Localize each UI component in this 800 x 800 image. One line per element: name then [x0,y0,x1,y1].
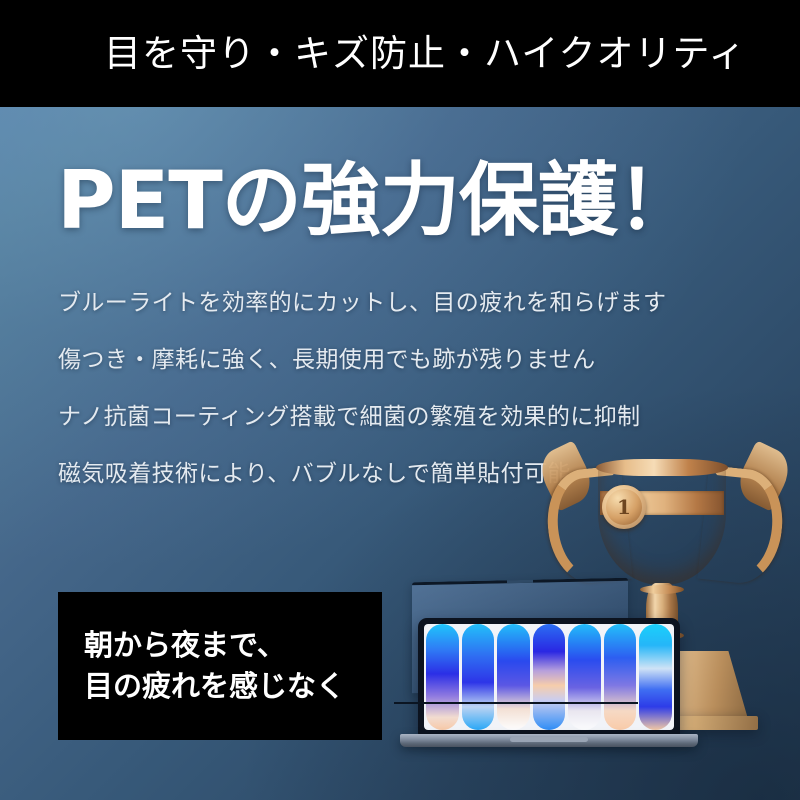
top-banner: 目を守り・キズ防止・ハイクオリティ [0,0,800,107]
wallpaper-bar-5 [568,624,601,730]
medal-number: 1 [617,497,631,517]
wallpaper-bar-3 [497,624,530,730]
quote-box: 朝から夜まで、 目の疲れを感じなく [58,592,382,740]
wallpaper-bar-4 [533,624,566,730]
product-scene: 1 [390,430,800,800]
laptop-screen [424,624,674,730]
laptop-lid [418,618,680,736]
feature-item-2: 傷つき・摩耗に強く、長期使用でも跡が残りません [58,349,698,372]
laptop-base [400,734,698,747]
laptop-device [418,618,680,753]
banner-headline: 目を守り・キズ防止・ハイクオリティ [104,35,746,72]
quote-line-2: 目の疲れを感じなく [84,666,382,707]
wallpaper-bar-1 [426,624,459,730]
quote-line-1: 朝から夜まで、 [84,625,382,666]
laptop-trackpad-notch [510,737,588,742]
trophy-stem-ring-top [640,585,684,594]
wallpaper-bar-2 [462,624,495,730]
feature-item-3: ナノ抗菌コーティング搭載で細菌の繁殖を効果的に抑制 [58,406,698,429]
promo-banner-page: 目を守り・キズ防止・ハイクオリティ PETの強力保護！ ブルーライトを効率的にカ… [0,0,800,800]
wallpaper-bar-7 [639,624,672,730]
wallpaper-bar-6 [604,624,637,730]
film-lower-edge [394,702,638,704]
trophy-medal-icon: 1 [602,485,646,529]
film-notch [507,580,533,584]
feature-item-1: ブルーライトを効率的にカットし、目の疲れを和らげます [58,292,698,315]
page-title: PETの強力保護！ [57,158,696,244]
